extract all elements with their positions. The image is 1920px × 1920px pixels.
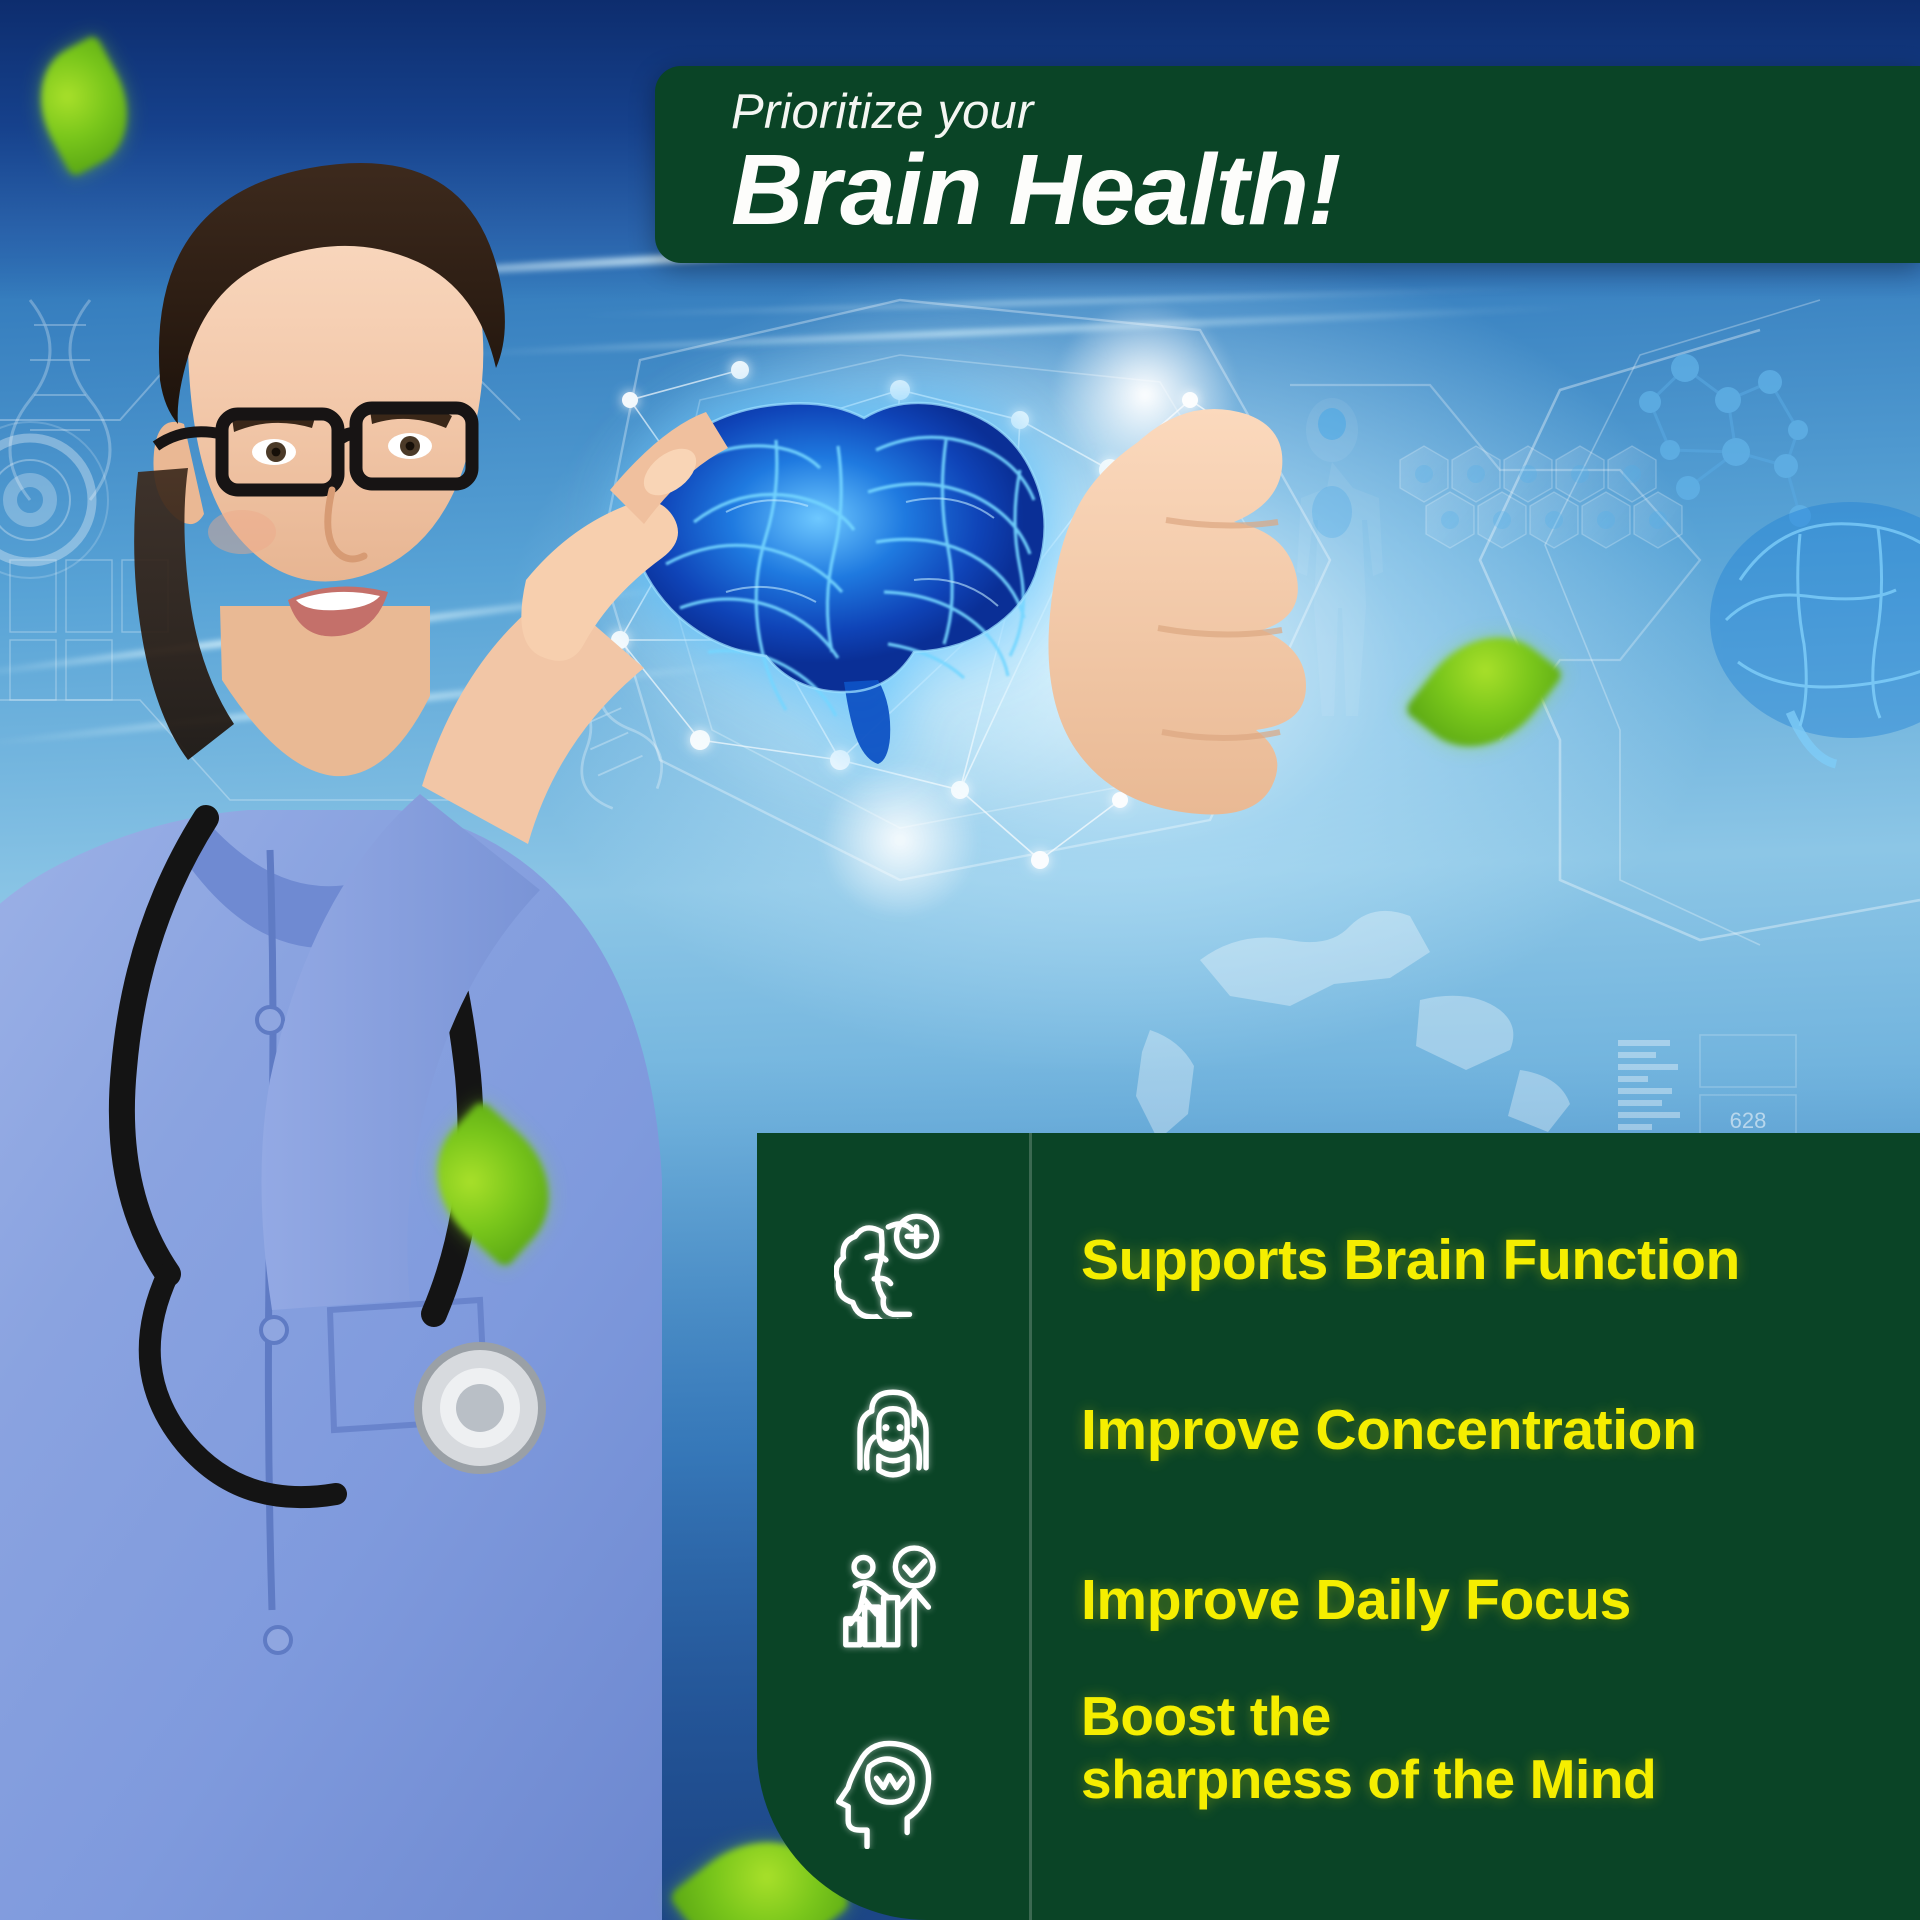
- scrub-button: [261, 1317, 287, 1343]
- benefit-icon-slot: [757, 1371, 1029, 1489]
- scrub-button: [265, 1627, 291, 1653]
- concentration-head-icon: [834, 1371, 952, 1489]
- doctor-portrait: [0, 20, 730, 1920]
- benefit-icon-slot: [757, 1681, 1029, 1891]
- benefits-panel: Supports Brain Function Improve Conc: [757, 1133, 1920, 1920]
- ad-canvas: 628 729: [0, 0, 1920, 1920]
- brain-plus-icon: [834, 1201, 952, 1319]
- scrub-button: [257, 1007, 283, 1033]
- benefit-row: Boost the sharpness of the Mind: [757, 1681, 1920, 1891]
- head-brain-profile-icon: [834, 1731, 952, 1849]
- stethoscope-chestpiece: [418, 1346, 542, 1470]
- world-map-graphic: [1136, 911, 1570, 1140]
- growth-chart-person-icon: [834, 1541, 952, 1659]
- benefit-label: Improve Concentration: [1029, 1398, 1920, 1463]
- header-headline: Brain Health!: [731, 140, 1920, 240]
- benefit-label: Boost the sharpness of the Mind: [1029, 1681, 1920, 1810]
- benefit-row: Improve Daily Focus: [757, 1515, 1920, 1685]
- header-banner: Prioritize your Brain Health!: [655, 66, 1920, 263]
- benefit-label: Improve Daily Focus: [1029, 1568, 1920, 1633]
- hud-value-628: 628: [1730, 1108, 1767, 1133]
- doctor-right-hand: [1030, 380, 1450, 840]
- benefit-label: Supports Brain Function: [1029, 1228, 1920, 1293]
- benefit-icon-slot: [757, 1541, 1029, 1659]
- lens-flare: [820, 760, 980, 920]
- benefit-icon-slot: [757, 1201, 1029, 1319]
- benefit-row: Supports Brain Function: [757, 1175, 1920, 1345]
- header-kicker: Prioritize your: [731, 88, 1920, 138]
- benefit-row: Improve Concentration: [757, 1345, 1920, 1515]
- doctor-left-hand: [521, 412, 728, 661]
- secondary-brain-hologram: [1710, 502, 1920, 764]
- benefit-label-line1: Boost the: [1081, 1685, 1331, 1747]
- benefit-label-line2: sharpness of the Mind: [1081, 1748, 1656, 1810]
